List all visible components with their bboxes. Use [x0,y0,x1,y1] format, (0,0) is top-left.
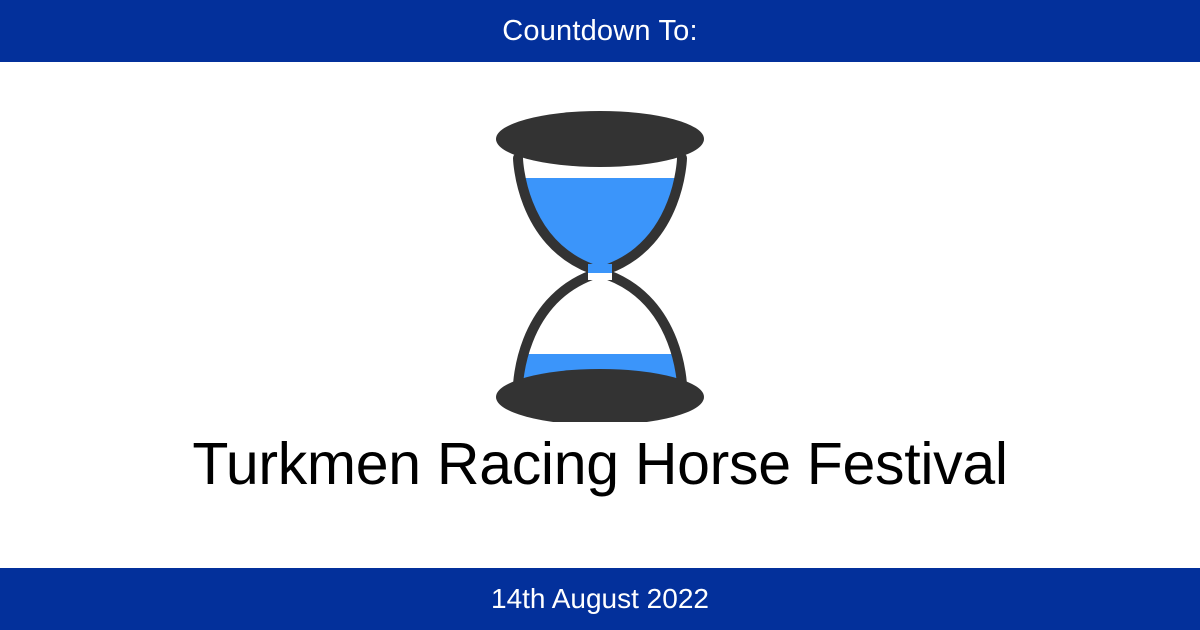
footer-bar: 14th August 2022 [0,568,1200,630]
countdown-poster: Countdown To: [0,0,1200,630]
hourglass-top-cap [496,111,704,167]
hourglass-icon [480,102,720,422]
event-date: 14th August 2022 [491,585,709,613]
hourglass-neck-sand [588,264,612,273]
event-title: Turkmen Racing Horse Festival [0,434,1200,496]
countdown-label: Countdown To: [502,17,698,46]
hourglass-graphic [480,102,720,422]
header-bar: Countdown To: [0,0,1200,62]
poster-body: Turkmen Racing Horse Festival [0,62,1200,568]
